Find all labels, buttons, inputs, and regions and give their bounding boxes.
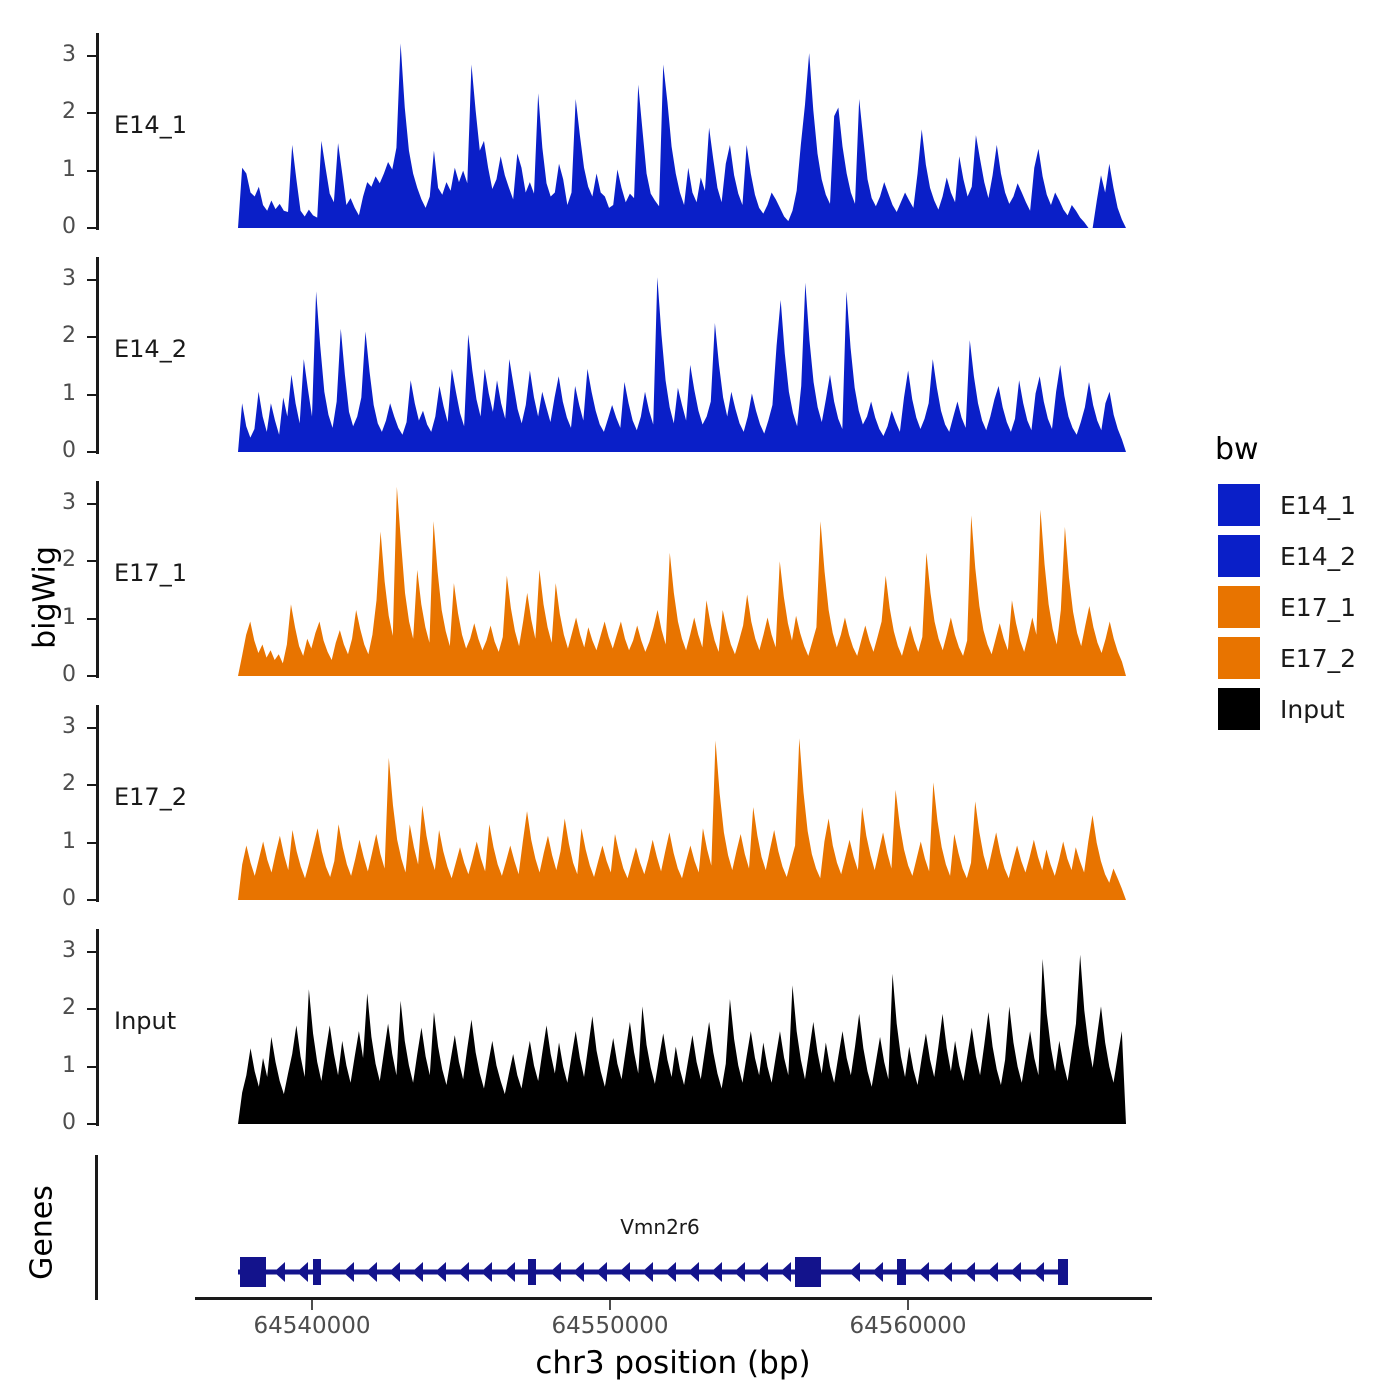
gene-strand-arrow-left-icon (274, 1262, 285, 1282)
gene-exon (528, 1259, 536, 1285)
gene-strand-arrow-left-icon (987, 1262, 998, 1282)
y-tick-label: 1 (26, 605, 76, 630)
legend-label-input: Input (1280, 695, 1345, 724)
y-tick-label: 0 (26, 1110, 76, 1135)
gene-strand-arrow-left-icon (918, 1262, 929, 1282)
x-tick-label: 64550000 (510, 1313, 710, 1339)
gene-strand-arrow-left-icon (412, 1262, 423, 1282)
y-tick-mark (87, 451, 97, 453)
track-area-e17_2 (238, 705, 1134, 904)
y-tick-label: 2 (26, 547, 76, 572)
x-tick-mark (907, 1300, 909, 1310)
y-tick-label: 3 (26, 714, 76, 739)
y-tick-mark (87, 170, 97, 172)
gene-strand-arrow-left-icon (757, 1262, 768, 1282)
track-area-e14_2 (238, 257, 1134, 456)
gene-label: Vmn2r6 (550, 1215, 770, 1239)
y-tick-mark (87, 618, 97, 620)
gene-strand-arrow-left-icon (550, 1262, 561, 1282)
y-tick-mark (87, 560, 97, 562)
gene-strand-arrow-left-icon (780, 1262, 791, 1282)
y-tick-label: 2 (26, 99, 76, 124)
y-tick-mark (87, 1123, 97, 1125)
gene-strand-arrow-left-icon (458, 1262, 469, 1282)
x-tick-mark (609, 1300, 611, 1310)
y-tick-mark (87, 55, 97, 57)
y-tick-mark (87, 784, 97, 786)
gene-strand-arrow-left-icon (849, 1262, 860, 1282)
y-tick-label: 0 (26, 662, 76, 687)
y-axis-line (96, 929, 99, 1126)
y-tick-mark (87, 394, 97, 396)
track-area-input (238, 929, 1134, 1128)
y-tick-label: 0 (26, 214, 76, 239)
y-tick-mark (87, 899, 97, 901)
gene-strand-arrow-left-icon (297, 1262, 308, 1282)
y-axis-line (96, 257, 99, 454)
y-tick-mark (87, 112, 97, 114)
x-axis-title: chr3 position (bp) (473, 1345, 873, 1381)
x-tick-mark (311, 1300, 313, 1310)
y-tick-label: 1 (26, 1053, 76, 1078)
gene-exon (240, 1257, 266, 1287)
gene-strand-arrow-left-icon (688, 1262, 699, 1282)
gene-exon (313, 1259, 321, 1285)
gene-exon (897, 1259, 906, 1285)
y-tick-mark (87, 279, 97, 281)
y-tick-label: 2 (26, 771, 76, 796)
gene-strand-arrow-left-icon (734, 1262, 745, 1282)
gene-strand-arrow-left-icon (435, 1262, 446, 1282)
gene-strand-arrow-left-icon (1033, 1262, 1044, 1282)
track-label-e14_1: E14_1 (114, 111, 187, 139)
track-label-input: Input (114, 1007, 176, 1035)
legend-swatch-input[interactable] (1218, 688, 1260, 730)
gene-strand-arrow-left-icon (964, 1262, 975, 1282)
track-area-e17_1 (238, 481, 1134, 680)
gene-strand-arrow-left-icon (366, 1262, 377, 1282)
gene-strand-arrow-left-icon (1010, 1262, 1021, 1282)
y-tick-label: 1 (26, 381, 76, 406)
y-tick-label: 0 (26, 886, 76, 911)
gene-strand-arrow-left-icon (481, 1262, 492, 1282)
legend-swatch-e17_2[interactable] (1218, 637, 1260, 679)
gene-exon (795, 1257, 821, 1287)
x-axis-line (195, 1297, 1152, 1300)
legend-swatch-e17_1[interactable] (1218, 586, 1260, 628)
y-tick-mark (87, 727, 97, 729)
y-tick-label: 2 (26, 323, 76, 348)
track-label-e14_2: E14_2 (114, 335, 187, 363)
gene-strand-arrow-left-icon (665, 1262, 676, 1282)
gene-strand-arrow-left-icon (619, 1262, 630, 1282)
track-label-e17_2: E17_2 (114, 783, 187, 811)
legend-label-e17_2: E17_2 (1280, 644, 1356, 673)
y-tick-label: 0 (26, 438, 76, 463)
y-tick-mark (87, 951, 97, 953)
y-tick-mark (87, 842, 97, 844)
y-tick-mark (87, 1066, 97, 1068)
y-tick-label: 2 (26, 995, 76, 1020)
x-tick-label: 64540000 (212, 1313, 412, 1339)
track-label-e17_1: E17_1 (114, 559, 187, 587)
legend-label-e17_1: E17_1 (1280, 593, 1356, 622)
genes-axis-title: Genes (25, 1143, 60, 1323)
legend-title: bw (1215, 432, 1259, 467)
y-tick-mark (87, 336, 97, 338)
gene-strand-arrow-left-icon (872, 1262, 883, 1282)
y-tick-label: 3 (26, 490, 76, 515)
y-tick-mark (87, 503, 97, 505)
y-tick-label: 3 (26, 42, 76, 67)
legend-label-e14_1: E14_1 (1280, 491, 1356, 520)
y-tick-mark (87, 227, 97, 229)
gene-model[interactable] (0, 1250, 1160, 1294)
legend-swatch-e14_2[interactable] (1218, 535, 1260, 577)
legend-label-e14_2: E14_2 (1280, 542, 1356, 571)
x-tick-label: 64560000 (808, 1313, 1008, 1339)
y-axis-line (96, 481, 99, 678)
gene-strand-arrow-left-icon (504, 1262, 515, 1282)
gene-strand-arrow-left-icon (573, 1262, 584, 1282)
gene-strand-arrow-left-icon (343, 1262, 354, 1282)
gene-strand-arrow-left-icon (941, 1262, 952, 1282)
y-tick-label: 3 (26, 266, 76, 291)
track-area-e14_1 (238, 33, 1134, 232)
y-tick-label: 1 (26, 157, 76, 182)
y-axis-line (96, 705, 99, 902)
gene-exon (1058, 1259, 1068, 1285)
y-tick-label: 3 (26, 938, 76, 963)
legend-swatch-e14_1[interactable] (1218, 484, 1260, 526)
gene-strand-arrow-left-icon (389, 1262, 400, 1282)
gene-strand-arrow-left-icon (596, 1262, 607, 1282)
y-tick-mark (87, 675, 97, 677)
gene-strand-arrow-left-icon (711, 1262, 722, 1282)
y-tick-mark (87, 1008, 97, 1010)
y-axis-line (96, 33, 99, 230)
y-tick-label: 1 (26, 829, 76, 854)
gene-strand-arrow-left-icon (642, 1262, 653, 1282)
